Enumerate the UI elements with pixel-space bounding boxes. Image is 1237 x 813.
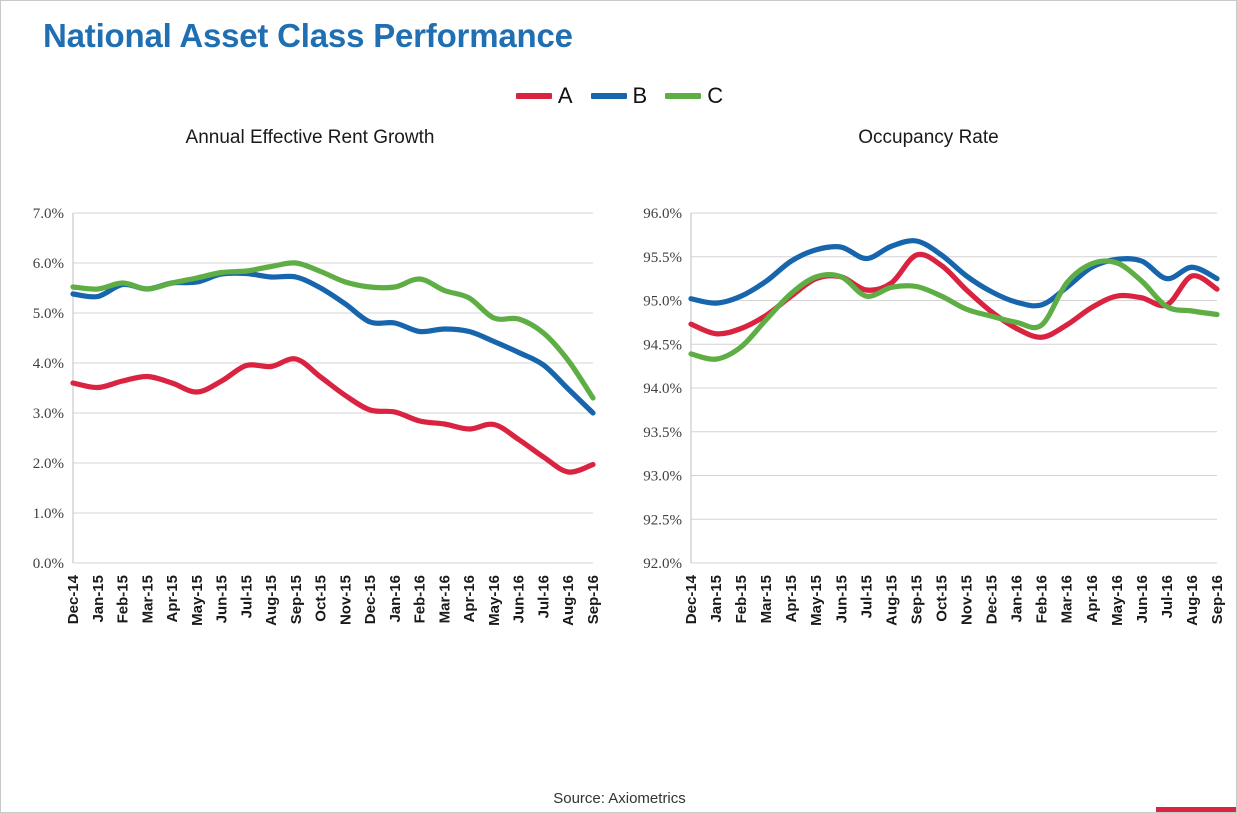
x-axis-tick-label: Nov-15 (337, 575, 354, 625)
source-note: Source: Axiometrics (1, 790, 1237, 807)
y-axis-tick-label: 92.0% (643, 556, 682, 572)
x-axis-tick: Jul-15 (858, 575, 875, 618)
x-axis-tick: Apr-16 (1084, 575, 1101, 623)
x-axis-tick: Oct-15 (934, 575, 951, 622)
y-axis-tick-label: 94.0% (643, 381, 682, 397)
x-axis-tick-label: Jun-15 (214, 575, 231, 623)
legend-swatch-a (516, 93, 552, 99)
x-axis-tick-label: Sep-15 (288, 575, 305, 624)
chart-legend: A B C (1, 85, 1237, 107)
x-axis-tick-label: Apr-16 (461, 575, 478, 623)
x-axis-tick: Apr-15 (164, 575, 181, 623)
legend-item-a[interactable]: A (516, 85, 573, 107)
x-axis-tick-label: Aug-15 (883, 575, 900, 626)
x-axis-tick: Feb-16 (412, 575, 429, 623)
y-axis-tick-label: 93.5% (643, 425, 682, 441)
y-axis-tick-label: 96.0% (643, 206, 682, 222)
x-axis-tick-label: Dec-14 (683, 574, 700, 624)
legend-item-b[interactable]: B (591, 85, 648, 107)
x-axis-tick-label: Jul-16 (536, 575, 553, 618)
x-axis-tick-label: Apr-15 (164, 575, 181, 623)
x-axis-tick: Dec-15 (984, 575, 1001, 624)
series-line-b (73, 273, 593, 413)
x-axis-tick: Jul-16 (1159, 575, 1176, 618)
x-axis-tick: Jun-15 (214, 575, 231, 623)
x-axis-tick-label: Nov-15 (959, 575, 976, 625)
x-axis-tick: Mar-16 (1059, 575, 1076, 623)
x-axis-tick-label: Jan-16 (1009, 575, 1026, 623)
y-axis-tick-label: 95.0% (643, 294, 682, 310)
x-axis-tick: Jun-15 (833, 575, 850, 623)
panel-title-rent-growth: Annual Effective Rent Growth (1, 127, 619, 149)
x-axis-tick: Sep-15 (908, 575, 925, 624)
x-axis-tick-label: Apr-16 (1084, 575, 1101, 623)
x-axis-tick: Apr-15 (783, 575, 800, 623)
x-axis-tick-label: Jun-16 (511, 575, 528, 623)
x-axis-tick: Jan-16 (387, 575, 404, 623)
x-axis-tick: May-16 (1109, 575, 1126, 626)
y-axis-tick-label: 7.0% (33, 206, 64, 222)
x-axis-tick-label: Mar-16 (436, 575, 453, 623)
x-axis-tick: Mar-15 (758, 575, 775, 623)
page-title: National Asset Class Performance (43, 17, 573, 55)
x-axis-tick: May-16 (486, 575, 503, 626)
x-axis-tick-label: May-16 (486, 575, 503, 626)
x-axis-tick: Dec-14 (65, 574, 82, 624)
chart-panel-occupancy: Occupancy Rate 92.0%92.5%93.0%93.5%94.0%… (619, 127, 1237, 807)
x-axis-tick: Feb-16 (1034, 575, 1051, 623)
x-axis-tick: Feb-15 (115, 575, 132, 623)
x-axis-tick: Aug-15 (263, 575, 280, 626)
x-axis-tick: Dec-14 (683, 574, 700, 624)
x-axis-tick-label: Jun-15 (833, 575, 850, 623)
x-axis-tick-label: Feb-15 (115, 575, 132, 623)
chart-panel-rent-growth: Annual Effective Rent Growth 0.0%1.0%2.0… (1, 127, 619, 807)
legend-swatch-b (591, 93, 627, 99)
x-axis-tick-label: Feb-16 (412, 575, 429, 623)
x-axis-tick: Oct-15 (313, 575, 330, 622)
y-axis-tick-label: 5.0% (33, 306, 64, 322)
y-axis-tick-label: 1.0% (33, 506, 64, 522)
x-axis-tick-label: Apr-15 (783, 575, 800, 623)
x-axis-tick-label: Sep-16 (585, 575, 602, 624)
x-axis-tick-label: Aug-16 (1184, 575, 1201, 626)
x-axis-tick-label: May-15 (189, 575, 206, 626)
x-axis-tick: Jun-16 (511, 575, 528, 623)
plot-area-occupancy: 92.0%92.5%93.0%93.5%94.0%94.5%95.0%95.5%… (619, 165, 1237, 745)
x-axis-tick: Nov-15 (959, 575, 976, 625)
y-axis-tick-label: 3.0% (33, 406, 64, 422)
x-axis-tick-label: Mar-15 (139, 575, 156, 623)
y-axis-tick-label: 92.5% (643, 512, 682, 528)
y-axis-tick-label: 2.0% (33, 456, 64, 472)
x-axis-tick: Jan-15 (708, 575, 725, 623)
x-axis-tick-label: Mar-16 (1059, 575, 1076, 623)
x-axis-tick: Jan-16 (1009, 575, 1026, 623)
x-axis-tick: May-15 (189, 575, 206, 626)
x-axis-tick-label: Aug-16 (560, 575, 577, 626)
corner-accent-bar (1156, 807, 1236, 812)
x-axis-tick: Mar-15 (139, 575, 156, 623)
x-axis-tick-label: May-16 (1109, 575, 1126, 626)
x-axis-tick-label: Jan-16 (387, 575, 404, 623)
plot-svg-rent-growth: 0.0%1.0%2.0%3.0%4.0%5.0%6.0%7.0%Dec-14Ja… (1, 165, 619, 745)
x-axis-tick-label: Dec-15 (362, 575, 379, 624)
y-axis-tick-label: 4.0% (33, 356, 64, 372)
x-axis-tick-label: Dec-15 (984, 575, 1001, 624)
x-axis-tick: Sep-15 (288, 575, 305, 624)
x-axis-tick: Jun-16 (1134, 575, 1151, 623)
x-axis-tick: Sep-16 (1209, 575, 1226, 624)
panel-title-occupancy: Occupancy Rate (619, 127, 1237, 149)
y-axis-tick-label: 0.0% (33, 556, 64, 572)
plot-area-rent-growth: 0.0%1.0%2.0%3.0%4.0%5.0%6.0%7.0%Dec-14Ja… (1, 165, 619, 745)
series-line-a (73, 359, 593, 472)
x-axis-tick-label: Sep-15 (908, 575, 925, 624)
x-axis-tick-label: Jun-16 (1134, 575, 1151, 623)
x-axis-tick: Dec-15 (362, 575, 379, 624)
x-axis-tick-label: Sep-16 (1209, 575, 1226, 624)
y-axis-tick-label: 6.0% (33, 256, 64, 272)
legend-label-c: C (707, 85, 723, 107)
legend-swatch-c (665, 93, 701, 99)
x-axis-tick-label: Dec-14 (65, 574, 82, 624)
x-axis-tick-label: Aug-15 (263, 575, 280, 626)
chart-page: National Asset Class Performance A B C A… (0, 0, 1237, 813)
legend-label-a: A (558, 85, 573, 107)
x-axis-tick-label: Jul-16 (1159, 575, 1176, 618)
x-axis-tick: Aug-15 (883, 575, 900, 626)
x-axis-tick: Jul-16 (536, 575, 553, 618)
y-axis-tick-label: 94.5% (643, 337, 682, 353)
plot-svg-occupancy: 92.0%92.5%93.0%93.5%94.0%94.5%95.0%95.5%… (619, 165, 1237, 745)
x-axis-tick-label: Jan-15 (90, 575, 107, 623)
x-axis-tick: Nov-15 (337, 575, 354, 625)
x-axis-tick-label: Feb-16 (1034, 575, 1051, 623)
x-axis-tick: Feb-15 (733, 575, 750, 623)
x-axis-tick-label: Oct-15 (934, 575, 951, 622)
legend-item-c[interactable]: C (665, 85, 723, 107)
x-axis-tick: Jul-15 (238, 575, 255, 618)
legend-label-b: B (633, 85, 648, 107)
x-axis-tick-label: Oct-15 (313, 575, 330, 622)
x-axis-tick-label: Jul-15 (858, 575, 875, 618)
x-axis-tick: Apr-16 (461, 575, 478, 623)
x-axis-tick-label: May-15 (808, 575, 825, 626)
y-axis-tick-label: 95.5% (643, 250, 682, 266)
x-axis-tick-label: Jul-15 (238, 575, 255, 618)
x-axis-tick-label: Mar-15 (758, 575, 775, 623)
x-axis-tick-label: Jan-15 (708, 575, 725, 623)
x-axis-tick: Mar-16 (436, 575, 453, 623)
x-axis-tick: May-15 (808, 575, 825, 626)
y-axis-tick-label: 93.0% (643, 469, 682, 485)
x-axis-tick: Aug-16 (560, 575, 577, 626)
x-axis-tick: Jan-15 (90, 575, 107, 623)
x-axis-tick-label: Feb-15 (733, 575, 750, 623)
x-axis-tick: Aug-16 (1184, 575, 1201, 626)
x-axis-tick: Sep-16 (585, 575, 602, 624)
